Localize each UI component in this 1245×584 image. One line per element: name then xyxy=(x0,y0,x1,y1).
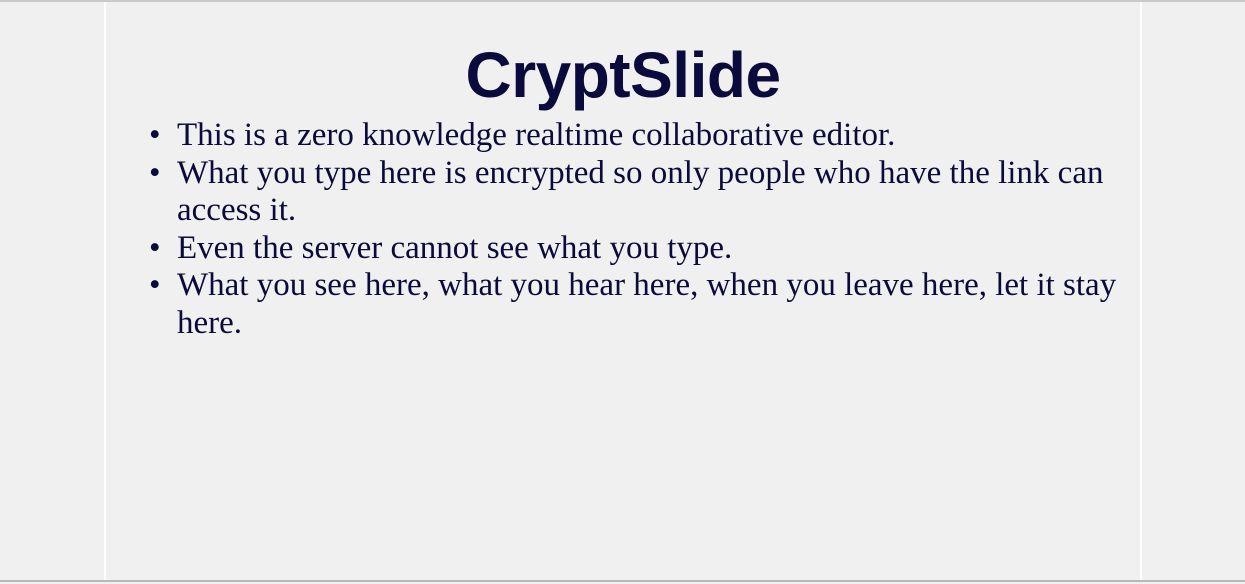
list-item-text: What you type here is encrypted so only … xyxy=(177,155,1130,230)
slide-viewer-frame: CryptSlide • This is a zero knowledge re… xyxy=(0,0,1245,584)
list-item-text: Even the server cannot see what you type… xyxy=(177,230,1130,268)
slide-right-border xyxy=(1140,2,1142,580)
slide-canvas[interactable]: CryptSlide • This is a zero knowledge re… xyxy=(106,4,1140,580)
slide-bullet-list: • This is a zero knowledge realtime coll… xyxy=(140,117,1130,342)
bullet-point-icon: • xyxy=(149,117,161,155)
list-item-text: What you see here, what you hear here, w… xyxy=(177,267,1130,342)
list-item[interactable]: • This is a zero knowledge realtime coll… xyxy=(140,117,1130,155)
list-item[interactable]: • What you see here, what you hear here,… xyxy=(140,267,1130,342)
bullet-point-icon: • xyxy=(149,155,161,193)
bullet-point-icon: • xyxy=(149,267,161,305)
bottom-divider-rule xyxy=(0,580,1245,582)
top-divider-rule xyxy=(0,0,1245,2)
slide-title[interactable]: CryptSlide xyxy=(106,40,1140,110)
list-item[interactable]: • Even the server cannot see what you ty… xyxy=(140,230,1130,268)
bullet-point-icon: • xyxy=(149,230,161,268)
list-item-text: This is a zero knowledge realtime collab… xyxy=(177,117,1130,155)
right-gutter xyxy=(1142,2,1245,580)
left-gutter xyxy=(0,2,104,580)
list-item[interactable]: • What you type here is encrypted so onl… xyxy=(140,155,1130,230)
